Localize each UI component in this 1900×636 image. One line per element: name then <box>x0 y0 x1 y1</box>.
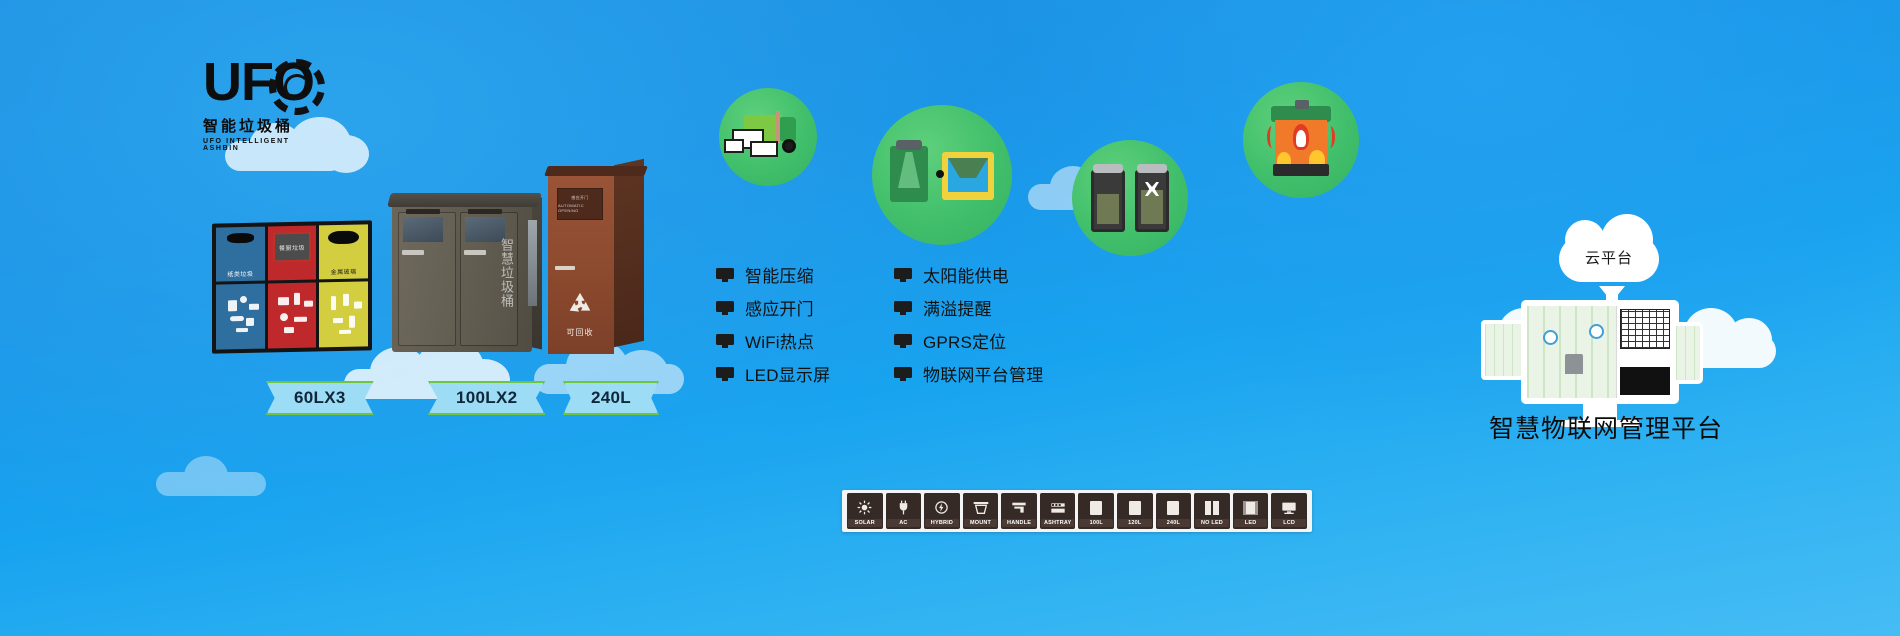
line-chart-grid <box>1620 309 1670 349</box>
feature-item: 满溢提醒 <box>894 295 1096 320</box>
spec-caption: ASHTRAY <box>1041 519 1075 527</box>
waste-illustration <box>216 283 265 349</box>
feature-label: 太阳能供电 <box>923 262 1009 287</box>
feature-item: 感应开门 <box>716 295 894 320</box>
feature-item: LED显示屏 <box>716 361 894 386</box>
monitor-bullet-icon <box>716 334 734 348</box>
truck-and-devices-icon <box>719 88 817 186</box>
bin-header-badge <box>406 209 440 214</box>
bin-slot-icon <box>227 233 254 244</box>
monitor-bullet-icon <box>894 301 912 315</box>
product-triple-compartment-bin: 纸类垃圾 餐厨垃圾 <box>212 222 372 352</box>
spec-icon-strip: SOLAR AC HYBRID MOUNT HANDLE <box>842 490 1312 532</box>
bin-top-cover <box>387 193 541 207</box>
spec-caption: AC <box>887 519 921 527</box>
feature-label: 物联网平台管理 <box>923 361 1043 386</box>
spec-icon-no-led: NO LED <box>1194 493 1230 529</box>
monitor-screen <box>1527 306 1673 398</box>
feature-label: 智能压缩 <box>745 262 814 287</box>
bin-side-text: 智慧垃圾桶 <box>498 238 514 308</box>
capacity-tag-60lx3: 60LX3 <box>266 381 374 415</box>
bin-header-badge <box>468 209 502 214</box>
feature-item: 智能压缩 <box>716 262 894 287</box>
product-double-smart-bin: 智慧垃圾桶 <box>392 200 532 352</box>
spec-caption: HYBRID <box>925 519 959 527</box>
bin-240l-icon <box>1157 496 1191 519</box>
map-pin <box>1543 330 1558 345</box>
waste-illustration <box>268 282 317 348</box>
solar-panel-icon <box>848 496 882 519</box>
spec-icon-solar: SOLAR <box>847 493 883 529</box>
spec-icon-hybrid: HYBRID <box>924 493 960 529</box>
spec-caption: 240L <box>1157 519 1191 527</box>
spec-icon-led: LED <box>1233 493 1269 529</box>
feature-label: 感应开门 <box>745 295 814 320</box>
bin-top-cover <box>544 166 648 176</box>
bin-120l-icon <box>1118 496 1152 519</box>
feature-circle-fire-alarm <box>1243 82 1359 198</box>
monitor-bullet-icon <box>716 301 734 315</box>
compartment-label: 餐厨垃圾 <box>279 242 305 252</box>
feature-circle-compression <box>1072 140 1188 256</box>
brand-logo: UFO 智能垃圾桶 UFO INTELLIGENT ASHBIN <box>203 55 323 150</box>
bin-slot-icon <box>328 231 359 245</box>
ashtray-icon <box>1041 496 1075 519</box>
monitor-bullet-icon <box>894 367 912 381</box>
spec-caption: LCD <box>1272 519 1306 527</box>
bin-compartment-kitchen: 餐厨垃圾 <box>268 225 317 348</box>
feature-label: LED显示屏 <box>745 361 830 386</box>
bin-display-screen: 感应开门 AUTOMATIC OPENING <box>557 188 603 220</box>
no-led-icon <box>1195 496 1229 519</box>
compartment-label: 纸类垃圾 <box>216 268 265 278</box>
spec-icon-mount: MOUNT <box>963 493 999 529</box>
recycle-label: 可回收 <box>562 327 598 338</box>
ac-plug-icon <box>887 496 921 519</box>
bin-card-slot <box>464 250 486 255</box>
feature-item: WiFi热点 <box>716 328 894 353</box>
waste-illustration <box>319 281 368 347</box>
product-single-brown-bin: 感应开门 AUTOMATIC OPENING 可回收 <box>548 172 644 354</box>
monitor-bullet-icon <box>716 367 734 381</box>
tablet-screen <box>1485 324 1523 376</box>
capacity-tag-240l: 240L <box>563 381 659 415</box>
spec-caption: NO LED <box>1195 519 1229 527</box>
feature-label: WiFi热点 <box>745 328 814 353</box>
cloud-platform-label: 云平台 <box>1559 236 1659 282</box>
compartment-label: 金属玻璃 <box>319 266 368 276</box>
desktop-monitor <box>1521 300 1679 404</box>
lcd-screen-icon <box>1272 496 1306 519</box>
spec-icon-ashtray: ASHTRAY <box>1040 493 1076 529</box>
iot-platform-illustration: 云平台 <box>1487 236 1787 436</box>
phone-screen <box>1676 326 1700 380</box>
map-pin <box>1589 324 1604 339</box>
bin-100l-icon <box>1079 496 1113 519</box>
analytics-panel <box>1616 306 1673 398</box>
map-view <box>1527 306 1616 398</box>
map-building <box>1565 354 1583 374</box>
bin-side-panel <box>614 159 644 347</box>
capacity-tag-100lx2: 100LX2 <box>428 381 545 415</box>
hybrid-power-icon <box>925 496 959 519</box>
spec-caption: 120L <box>1118 519 1152 527</box>
spec-caption: HANDLE <box>1002 519 1036 527</box>
cloud-decoration <box>148 452 298 498</box>
spec-icon-120l: 120L <box>1117 493 1153 529</box>
spec-caption: MOUNT <box>964 519 998 527</box>
recycle-mark: 可回收 <box>562 290 598 338</box>
spec-icon-240l: 240L <box>1156 493 1192 529</box>
handle-icon <box>1002 496 1036 519</box>
feature-list: 智能压缩 太阳能供电 感应开门 满溢提醒 WiFi热点 GPRS定位 LED显示… <box>716 262 1096 386</box>
bin-compartment-metal-glass: 金属玻璃 <box>319 224 368 347</box>
spec-icon-ac: AC <box>886 493 922 529</box>
feature-label: 满溢提醒 <box>923 295 992 320</box>
feature-circle-fleet-management <box>719 88 817 186</box>
screen-caption-en: AUTOMATIC OPENING <box>558 203 602 213</box>
bin-display-screen: 餐厨垃圾 <box>273 232 311 263</box>
spec-icon-100l: 100L <box>1078 493 1114 529</box>
monitor-bullet-icon <box>894 268 912 282</box>
bin-light-pane <box>528 220 537 306</box>
dual-bin-compression-icon <box>1072 140 1188 256</box>
bin-compartment-paper: 纸类垃圾 <box>216 227 265 350</box>
monitor-bullet-icon <box>716 268 734 282</box>
feature-circle-waste-sorting <box>872 105 1012 245</box>
spec-icon-lcd: LCD <box>1271 493 1307 529</box>
spec-caption: SOLAR <box>848 519 882 527</box>
spec-caption: LED <box>1234 519 1268 527</box>
feature-label: GPRS定位 <box>923 328 1006 353</box>
monitor-bullet-icon <box>894 334 912 348</box>
logo-english-name: UFO INTELLIGENT ASHBIN <box>203 138 323 152</box>
fire-alarm-bin-icon <box>1243 82 1359 198</box>
product-banner: UFO 智能垃圾桶 UFO INTELLIGENT ASHBIN 纸类垃圾 <box>0 0 1900 636</box>
phone-device <box>1673 322 1703 384</box>
bins-sorting-icon <box>872 105 1012 245</box>
screen-caption-cn: 感应开门 <box>571 195 588 201</box>
bin-card-slot <box>402 250 424 255</box>
cloud-platform-badge: 云平台 <box>1559 236 1659 282</box>
bin-lcd-screen-left <box>403 217 443 242</box>
platform-caption: 智慧物联网管理平台 <box>1489 409 1789 445</box>
logo-chinese-name: 智能垃圾桶 <box>203 115 323 136</box>
area-chart <box>1620 367 1670 395</box>
spec-caption: 100L <box>1079 519 1113 527</box>
feature-item: 物联网平台管理 <box>894 361 1096 386</box>
led-panel-icon <box>1234 496 1268 519</box>
recycle-icon <box>564 290 596 320</box>
spec-icon-handle: HANDLE <box>1001 493 1037 529</box>
feature-item: 太阳能供电 <box>894 262 1096 287</box>
wall-mount-icon <box>964 496 998 519</box>
bin-card-slot <box>555 266 575 270</box>
feature-item: GPRS定位 <box>894 328 1096 353</box>
logo-ring-icon <box>269 59 325 115</box>
